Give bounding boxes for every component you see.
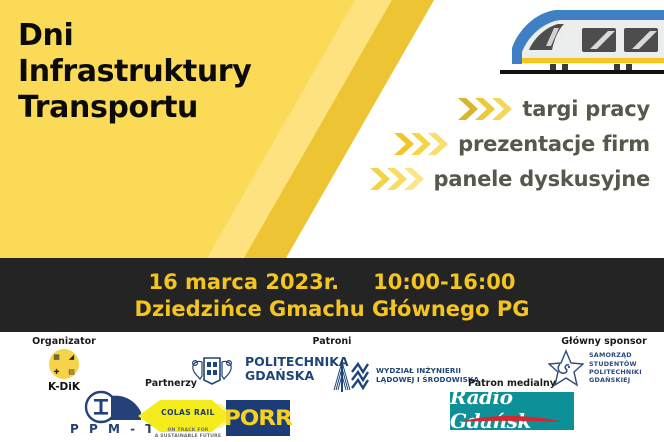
chevron-right-triple-icon	[456, 96, 512, 122]
event-place: Dziedzińce Gmachu Głównego PG	[135, 297, 530, 321]
sponsor-line-4: GDAŃSKIEJ	[589, 376, 642, 384]
kdik-quadrant: ✚	[49, 364, 64, 379]
title-line-2: Infrastruktury	[18, 54, 318, 90]
event-details-band: 16 marca 2023r. 10:00-16:00 Dziedzińce G…	[0, 258, 664, 332]
bullet-item: panele dyskusyjne	[368, 166, 650, 192]
bullet-item: targi pracy	[456, 96, 650, 122]
partners-caption: Partnerzy	[112, 378, 230, 389]
main-sponsor-caption: Główny sponsor	[548, 336, 660, 347]
radio-gdansk-logo: Radio Gdańsk	[450, 392, 574, 430]
chevron-right-triple-icon	[368, 166, 424, 192]
kdik-logo: ▦ ◢ ✚ ▤ K-DiK	[22, 347, 106, 393]
organizer-caption: Organizator	[22, 336, 106, 347]
wilis-line-1: WYDZIAŁ INŻYNIERII	[376, 366, 479, 375]
porr-logo: PORR	[226, 400, 290, 436]
hero-section: Dni Infrastruktury Transportu	[0, 0, 664, 258]
chevron-right-triple-icon	[392, 131, 448, 157]
bullet-label: panele dyskusyjne	[434, 167, 650, 191]
train-icon	[496, 2, 664, 82]
bullet-label: prezentacje firm	[458, 132, 650, 156]
kdik-quadrant: ▦	[49, 349, 64, 364]
event-datetime-row: 16 marca 2023r. 10:00-16:00	[148, 270, 515, 294]
media-patron-block: Patron medialny Radio Gdańsk	[450, 378, 574, 430]
radio-gdansk-swoosh-icon	[450, 414, 574, 428]
sponsor-line-2: STUDENTÓW	[589, 360, 642, 368]
event-poster: Dni Infrastruktury Transportu	[0, 0, 664, 442]
bullet-item: prezentacje firm	[392, 131, 650, 157]
patrons-caption: Patroni	[272, 336, 392, 347]
kdik-quadrant: ◢	[64, 349, 79, 364]
partners-caption-wrap: Partnerzy	[112, 378, 230, 389]
kdik-circle-icon: ▦ ◢ ✚ ▤	[49, 349, 79, 379]
bullet-list: targi pracy prezentacje firm	[280, 96, 650, 192]
bridge-icon	[332, 356, 370, 394]
bullet-label: targi pracy	[522, 97, 650, 121]
title-line-1: Dni	[18, 18, 318, 54]
sponsors-footer: Organizator ▦ ◢ ✚ ▤ K-DiK Patroni	[0, 332, 664, 442]
poster-title: Dni Infrastruktury Transportu	[18, 18, 318, 126]
porr-name: PORR	[224, 406, 292, 430]
organizer-block: Organizator ▦ ◢ ✚ ▤ K-DiK	[22, 336, 106, 393]
patrons-caption-wrap: Patroni	[272, 336, 392, 347]
event-time: 10:00-16:00	[373, 270, 515, 294]
event-date: 16 marca 2023r.	[148, 270, 339, 294]
media-patron-caption: Patron medialny	[450, 378, 574, 389]
kdik-quadrant: ▤	[64, 364, 79, 379]
sponsor-line-1: SAMORZĄD	[589, 351, 642, 359]
title-line-3: Transportu	[18, 90, 318, 126]
